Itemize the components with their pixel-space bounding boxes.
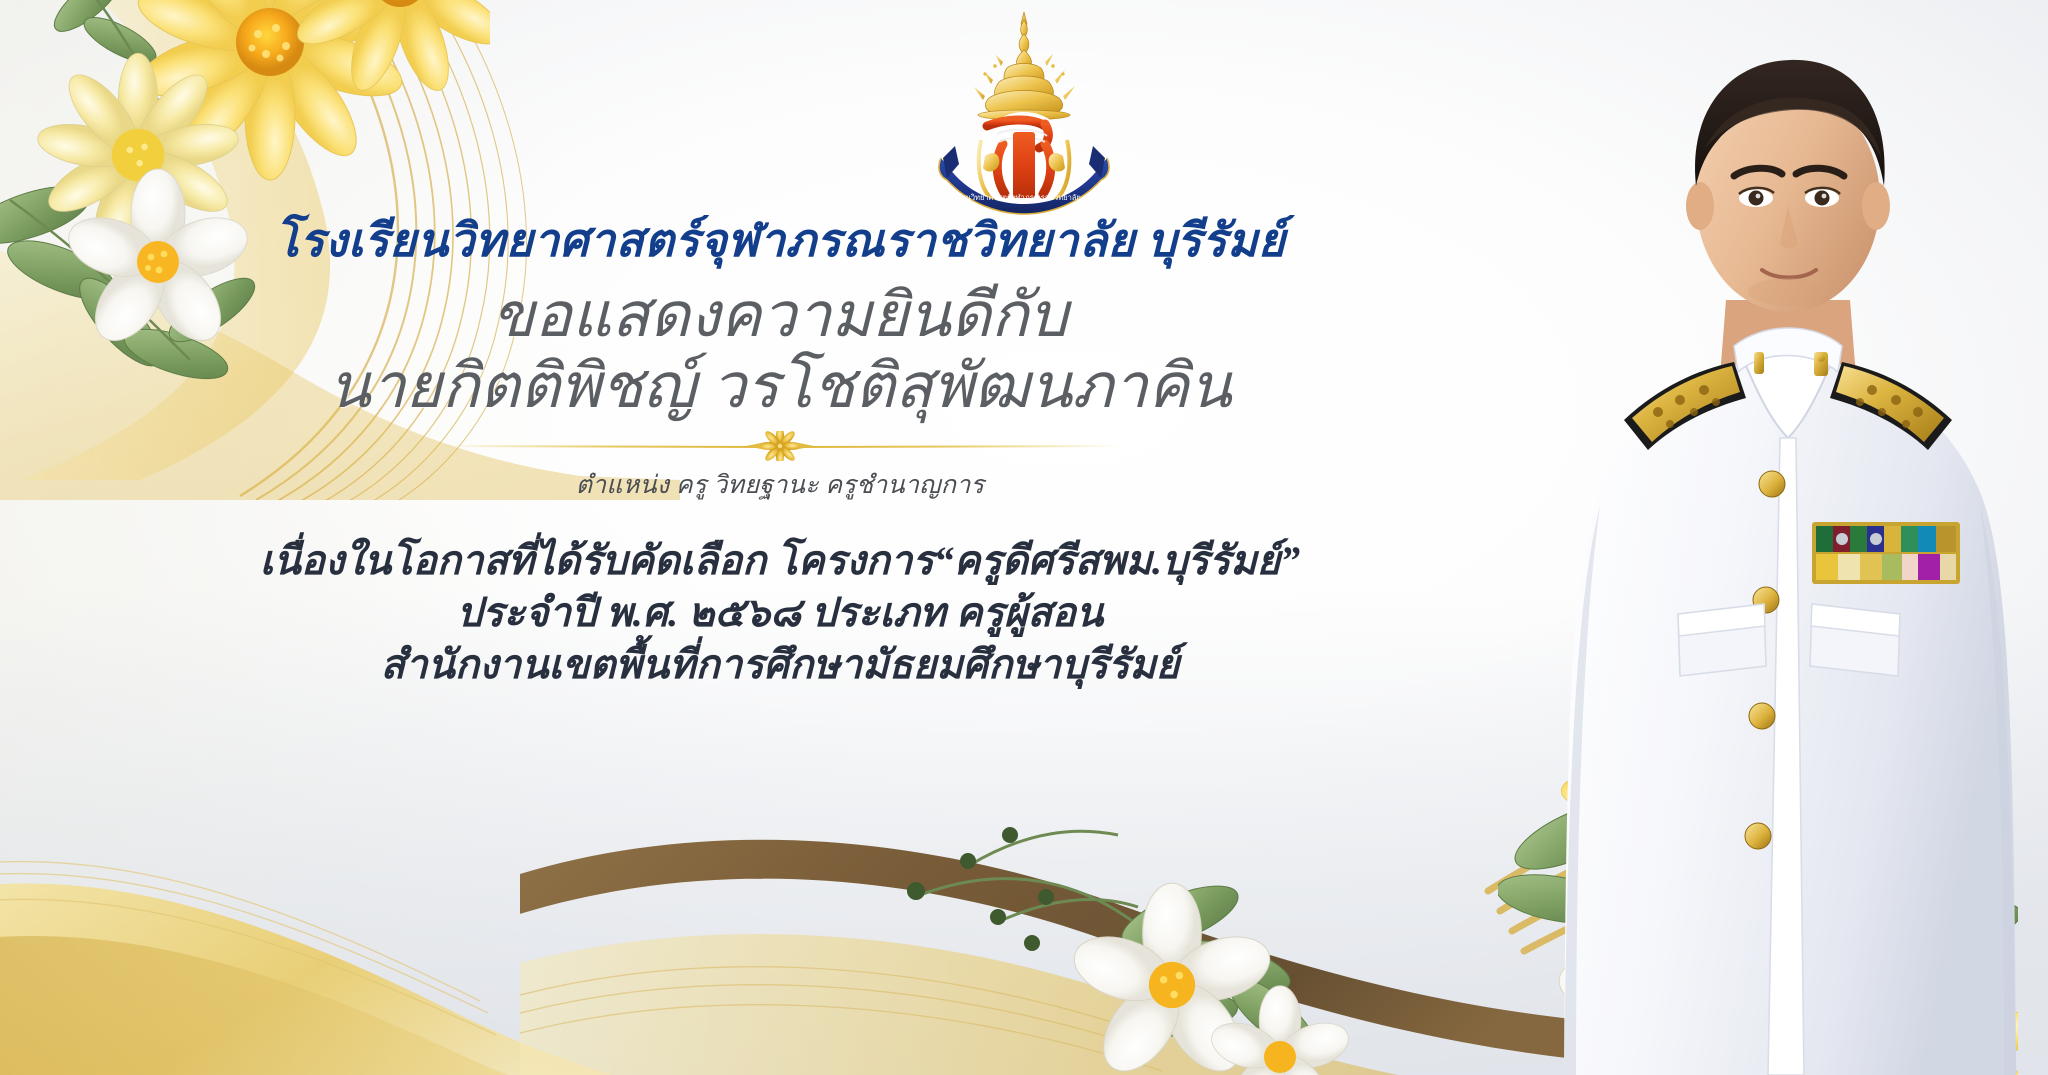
award-line-1: เนื่องในโอกาสที่ได้รับคัดเลือก โครงการ“ค… [260,535,1300,587]
emblem-ribbon-text: โรงเรียนวิทยาศาสตร์จุฬาภรณราชวิทยาลัย บุ… [943,193,1105,202]
school-name: โรงเรียนวิทยาศาสตร์จุฬาภรณราชวิทยาลัย บุ… [275,215,1286,268]
congratulation-text: ขอแสดงความยินดีกับ [492,282,1068,351]
award-description: เนื่องในโอกาสที่ได้รับคัดเลือก โครงการ“ค… [260,535,1300,691]
school-emblem: โรงเรียนวิทยาศาสตร์จุฬาภรณราชวิทยาลัย บุ… [929,8,1119,218]
award-line-2: ประจำปี พ.ศ. ๒๕๖๘ ประเภท ครูผู้สอน [260,587,1300,639]
floral-decoration-bottom-center [880,685,1400,1075]
honoree-portrait [1528,0,2048,1075]
honoree-name: นายกิตติพิชญ์ วรโชติสุพัฒนภาคิน [328,353,1231,422]
gold-flower-divider [430,431,1130,461]
award-line-3: สำนักงานเขตพื้นที่การศึกษามัธยมศึกษาบุรี… [260,639,1300,691]
divider-graphic [430,431,1130,461]
congratulations-banner: โรงเรียนวิทยาศาสตร์จุฬาภรณราชวิทยาลัย บุ… [0,0,2048,1075]
position-line: ตำแหน่ง ครู วิทยฐานะ ครูชำนาญการ [576,465,985,505]
